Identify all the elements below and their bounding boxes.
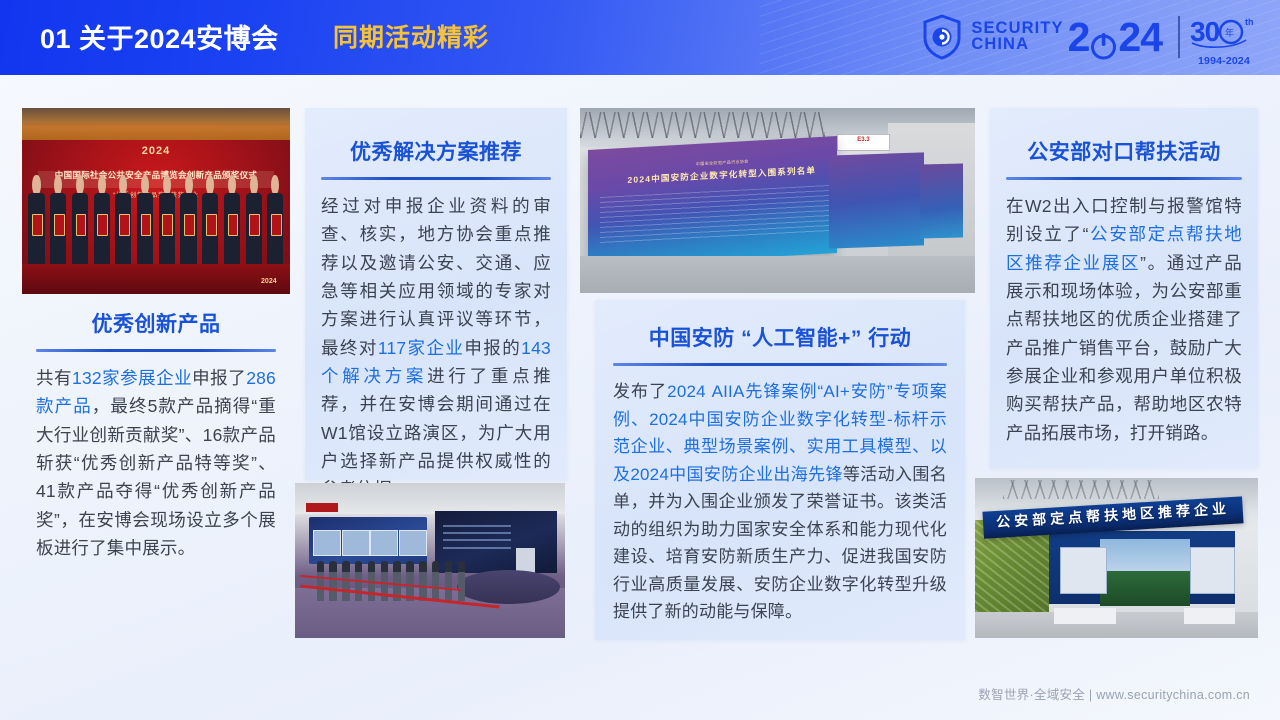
- column-4-rule: [1006, 177, 1242, 180]
- photo1-corner-logo: 2024: [261, 278, 277, 285]
- column-1-rule: [36, 349, 276, 352]
- logo-year-suffix: 24: [1118, 14, 1162, 61]
- column-3-rule: [613, 363, 947, 366]
- svg-text:30: 30: [1190, 16, 1220, 47]
- roadshow-audience-photo: [295, 483, 565, 638]
- security-shield-icon: [922, 14, 962, 60]
- logo-year: 2 24: [1068, 14, 1162, 61]
- slide-root: 01 关于2024安博会 同期活动精彩 SECURITY CHINA 2: [0, 0, 1280, 720]
- column-2-title: 优秀解决方案推荐: [321, 136, 551, 166]
- column-mps-targeted-assistance-activity: 公安部对口帮扶活动 在W2出入口控制与报警馆特别设立了“公安部定点帮扶地区推荐企…: [990, 108, 1258, 468]
- logo-wordmark: SECURITY CHINA 2 24: [971, 14, 1162, 61]
- column-4-paragraph: 在W2出入口控制与报警馆特别设立了“公安部定点帮扶地区推荐企业展区”。通过产品展…: [1006, 192, 1242, 447]
- photo1-stage-logo: 2024: [22, 145, 290, 157]
- column-2-paragraph: 经过对申报企业资料的审查、核实，地方协会重点推荐以及邀请公安、交通、应急等相关应…: [321, 192, 551, 504]
- hall-sign: E3.3: [837, 134, 890, 151]
- svg-text:th: th: [1245, 17, 1254, 27]
- exhibition-honor-wall-photo: E3.3 中国安全防范产品行业协会 2024中国安防企业数字化转型入围系列名单: [580, 108, 975, 293]
- power-button-icon: [1090, 23, 1117, 52]
- logo-divider: [1178, 16, 1180, 58]
- photo1-award-recipients: [27, 175, 284, 268]
- security-china-logo: SECURITY CHINA 2 24: [922, 11, 1162, 63]
- anniversary-badge: 30 年 th 1994-2024: [1184, 13, 1264, 63]
- section-subtitle: 同期活动精彩: [333, 18, 489, 54]
- column-3-paragraph: 发布了2024 AIIA先锋案例“AI+安防”专项案例、2024中国安防企业数字…: [613, 378, 947, 626]
- column-1-title: 优秀创新产品: [22, 308, 290, 338]
- column-china-security-ai-plus-action: 中国安防 “人工智能+” 行动 发布了2024 AIIA先锋案例“AI+安防”专…: [595, 300, 965, 640]
- logo-line-china: CHINA: [971, 37, 1063, 53]
- mps-assistance-booth-photo: 公安部定点帮扶地区推荐企业: [975, 478, 1258, 638]
- column-excellent-innovative-products: 2024 中国国际社会公共安全产品博览会创新产品颁奖仪式 “优秀创新产品奖” 获…: [22, 108, 290, 638]
- anniversary-years: 1994-2024: [1184, 55, 1264, 67]
- column-3-title: 中国安防 “人工智能+” 行动: [613, 322, 947, 352]
- footer-text: 数智世界·全域安全 | www.securitychina.com.cn: [978, 684, 1250, 703]
- logo-year-prefix: 2: [1068, 14, 1090, 61]
- column-excellent-solution-recommendation: 优秀解决方案推荐 经过对申报企业资料的审查、核实，地方协会重点推荐以及邀请公安、…: [305, 108, 567, 480]
- column-4-title: 公安部对口帮扶活动: [1006, 136, 1242, 166]
- section-number-title: 01 关于2024安博会: [40, 17, 279, 56]
- svg-text:年: 年: [1225, 27, 1234, 39]
- award-ceremony-photo: 2024 中国国际社会公共安全产品博览会创新产品颁奖仪式 “优秀创新产品奖” 获…: [22, 108, 290, 294]
- slide-header: 01 关于2024安博会 同期活动精彩 SECURITY CHINA 2: [0, 0, 1280, 75]
- column-1-paragraph: 共有132家参展企业申报了286款产品，最终5款产品摘得“重大行业创新贡献奖”、…: [36, 364, 276, 562]
- column-2-rule: [321, 177, 551, 180]
